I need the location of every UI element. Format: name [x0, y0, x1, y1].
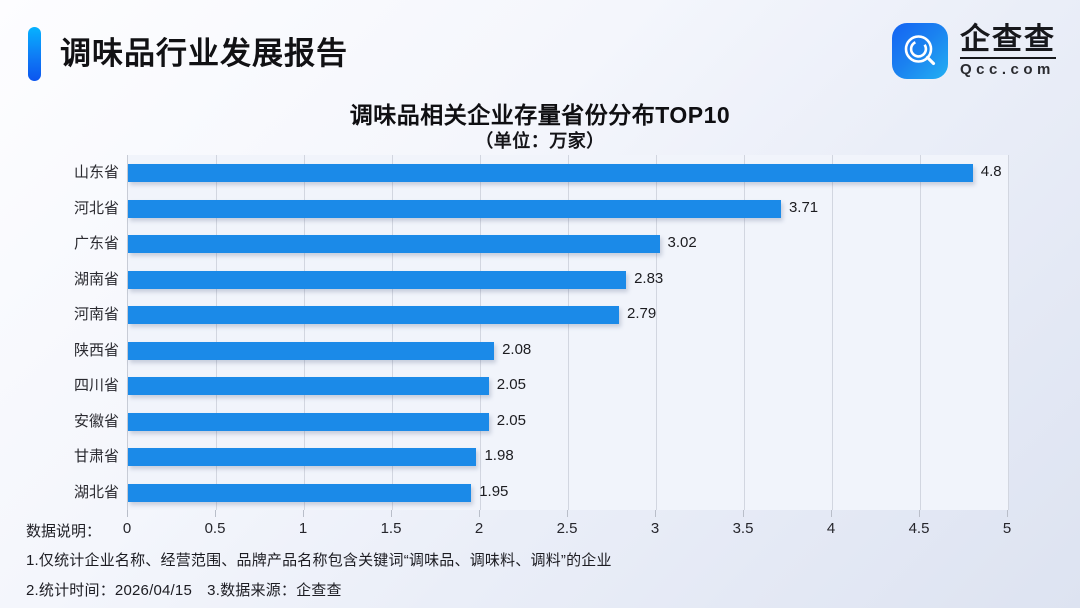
chart-category-label: 安徽省	[11, 412, 119, 431]
chart-category-label: 山东省	[11, 163, 119, 182]
chart-x-tick	[655, 510, 656, 517]
chart-value-label: 3.02	[668, 234, 697, 251]
chart-x-tick-label: 0	[123, 520, 131, 537]
footnote-2: 2.统计时间：2026/04/15 3.数据来源：企查查	[26, 579, 342, 600]
chart-x-tick-label: 5	[1003, 520, 1011, 537]
chart-category-label: 河北省	[11, 199, 119, 218]
chart-bar-row: 河南省2.79	[128, 297, 1008, 333]
chart-value-label: 2.05	[497, 412, 526, 429]
chart-category-label: 四川省	[11, 376, 119, 395]
chart-x-tick	[567, 510, 568, 517]
chart-value-label: 1.95	[479, 483, 508, 500]
chart-subtitle: （单位：万家）	[0, 127, 1080, 153]
chart-value-label: 2.05	[497, 376, 526, 393]
chart-x-tick-label: 4.5	[909, 520, 930, 537]
chart-x-tick-label: 1	[299, 520, 307, 537]
chart-category-label: 甘肃省	[11, 447, 119, 466]
chart-category-label: 陕西省	[11, 341, 119, 360]
chart-bar[interactable]	[128, 448, 476, 466]
chart-value-label: 2.08	[502, 341, 531, 358]
chart-bar-row: 广东省3.02	[128, 226, 1008, 262]
chart-bar[interactable]	[128, 484, 471, 502]
chart-x-tick-label: 4	[827, 520, 835, 537]
chart-x-axis: 00.511.522.533.544.55	[127, 510, 1007, 540]
chart-category-label: 河南省	[11, 305, 119, 324]
chart-bar-row: 安徽省2.05	[128, 404, 1008, 440]
chart-x-tick	[215, 510, 216, 517]
chart-x-tick	[743, 510, 744, 517]
page-header: 调味品行业发展报告 企查查 Qcc.com	[0, 0, 1080, 92]
chart-bar-row: 甘肃省1.98	[128, 439, 1008, 475]
chart-bar-row: 河北省3.71	[128, 191, 1008, 227]
chart-plot-area: 山东省4.8河北省3.71广东省3.02湖南省2.83河南省2.79陕西省2.0…	[127, 155, 1008, 510]
chart-x-tick	[303, 510, 304, 517]
chart-category-label: 湖南省	[11, 270, 119, 289]
chart-x-tick	[831, 510, 832, 517]
chart-bar-row: 湖北省1.95	[128, 475, 1008, 511]
chart-value-label: 2.79	[627, 305, 656, 322]
chart-value-label: 1.98	[484, 447, 513, 464]
chart-x-tick	[1007, 510, 1008, 517]
chart-bar-row: 四川省2.05	[128, 368, 1008, 404]
brand-logo: 企查查 Qcc.com	[892, 20, 1056, 82]
chart-title: 调味品相关企业存量省份分布TOP10	[0, 96, 1080, 130]
chart-gridline	[1008, 155, 1009, 510]
chart-x-tick-label: 3.5	[733, 520, 754, 537]
chart-x-tick	[919, 510, 920, 517]
chart-x-tick	[479, 510, 480, 517]
chart-category-label: 广东省	[11, 234, 119, 253]
qcc-magnifier-icon	[892, 23, 948, 79]
chart-bar[interactable]	[128, 164, 973, 182]
chart-value-label: 2.83	[634, 270, 663, 287]
chart-bar[interactable]	[128, 271, 626, 289]
chart-bar[interactable]	[128, 235, 660, 253]
chart-x-tick-label: 0.5	[205, 520, 226, 537]
chart-x-tick-label: 3	[651, 520, 659, 537]
chart-bar[interactable]	[128, 413, 489, 431]
brand-logo-text: 企查查 Qcc.com	[960, 23, 1056, 79]
notes-label: 数据说明：	[26, 520, 101, 541]
chart-x-tick-label: 1.5	[381, 520, 402, 537]
chart-bar-row: 山东省4.8	[128, 155, 1008, 191]
chart-bar[interactable]	[128, 342, 494, 360]
chart-x-tick-label: 2	[475, 520, 483, 537]
chart-x-tick-label: 2.5	[557, 520, 578, 537]
footnote-1: 1.仅统计企业名称、经营范围、品牌产品名称包含关键词“调味品、调味料、调料”的企…	[26, 549, 612, 570]
title-accent-bar	[28, 27, 41, 81]
chart-bar-row: 陕西省2.08	[128, 333, 1008, 369]
brand-name-en: Qcc.com	[960, 57, 1056, 79]
chart-bar[interactable]	[128, 306, 619, 324]
page-title: 调味品行业发展报告	[60, 28, 348, 80]
chart-bar[interactable]	[128, 200, 781, 218]
chart-x-tick	[127, 510, 128, 517]
chart-category-label: 湖北省	[11, 483, 119, 502]
chart-x-tick	[391, 510, 392, 517]
brand-name-cn: 企查查	[960, 23, 1056, 56]
chart-bar-row: 湖南省2.83	[128, 262, 1008, 298]
chart-value-label: 3.71	[789, 199, 818, 216]
chart-value-label: 4.8	[981, 163, 1002, 180]
chart-bar[interactable]	[128, 377, 489, 395]
